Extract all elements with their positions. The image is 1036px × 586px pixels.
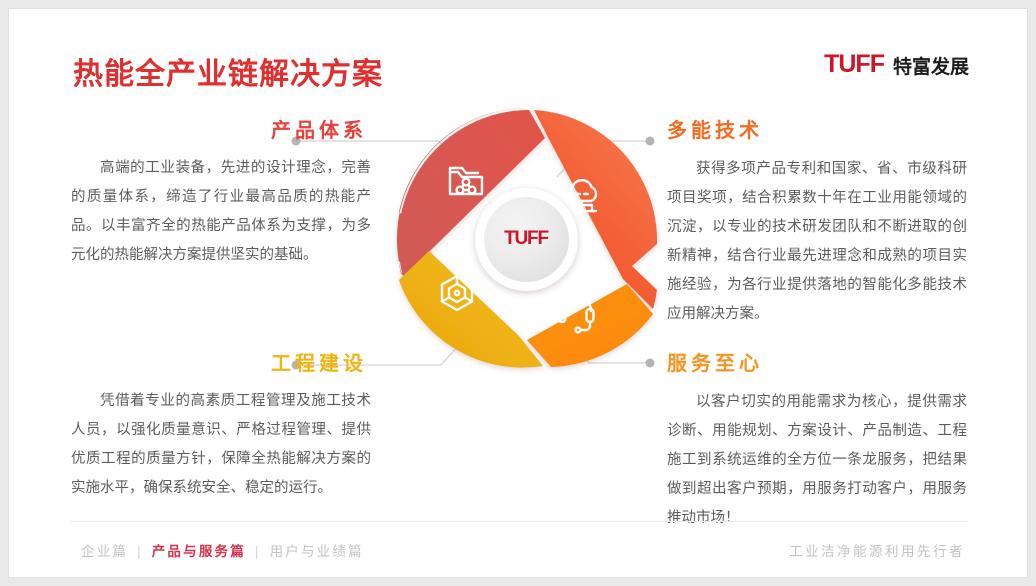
quadrant-product-body: 高端的工业装备，先进的设计理念，完善的质量体系，缔造了行业最高品质的热能产品。以… <box>71 154 371 270</box>
footer-separator-0: | <box>137 544 143 559</box>
footer-nav: 企业篇 | 产品与服务篇 | 用户与业绩篇 <box>81 540 364 560</box>
footer-nav-item-1[interactable]: 产品与服务篇 <box>152 544 246 559</box>
center-hub: TUFF <box>475 188 578 291</box>
quadrant-engineering: 工程建设 凭借着专业的高素质工程管理及施工技术人员，以强化质量意识、严格过程管理… <box>71 354 371 503</box>
page-title: 热能全产业链解决方案 <box>73 49 383 93</box>
brand-logo: TUFF 特富发展 <box>824 51 969 80</box>
footer-nav-item-2[interactable]: 用户与业绩篇 <box>270 544 364 559</box>
quadrant-engineering-body: 凭借着专业的高素质工程管理及施工技术人员，以强化质量意识、严格过程管理、提供优质… <box>71 387 371 503</box>
quadrant-technology-title: 多能技术 <box>667 120 763 142</box>
center-logo-label: TUFF <box>504 228 548 250</box>
quadrant-service-title: 服务至心 <box>667 353 763 375</box>
quadrant-service-body: 以客户切实的用能需求为核心，提供需求诊断、用能规划、方案设计、产品制造、工程施工… <box>667 388 967 533</box>
brand-name-label: 特富发展 <box>893 52 969 79</box>
footer-tagline: 工业洁净能源利用先行者 <box>789 540 965 560</box>
center-hub-inner: TUFF <box>484 197 569 282</box>
quadrant-product: 产品体系 高端的工业装备，先进的设计理念，完善的质量体系，缔造了行业最高品质的热… <box>71 121 371 270</box>
quadrant-technology-body: 获得多项产品专利和国家、省、市级科研项目奖项，结合积累数十年在工业用能领域的沉淀… <box>667 155 967 329</box>
quadrant-service: 服务至心 以客户切实的用能需求为核心，提供需求诊断、用能规划、方案设计、产品制造… <box>667 354 967 533</box>
slide-header: 热能全产业链解决方案 TUFF 特富发展 <box>9 9 1027 105</box>
quadrant-engineering-title: 工程建设 <box>71 354 371 374</box>
slide-canvas: 热能全产业链解决方案 TUFF 特富发展 <box>8 8 1028 578</box>
footer-separator-1: | <box>255 544 261 559</box>
brand-wordmark-icon: TUFF <box>824 50 884 79</box>
quadrant-product-title: 产品体系 <box>71 121 371 141</box>
footer-nav-item-0[interactable]: 企业篇 <box>81 544 128 559</box>
quadrant-technology: 多能技术 获得多项产品专利和国家、省、市级科研项目奖项，结合积累数十年在工业用能… <box>667 121 967 329</box>
footer-divider <box>71 521 967 522</box>
donut-diagram: TUFF <box>391 104 661 374</box>
